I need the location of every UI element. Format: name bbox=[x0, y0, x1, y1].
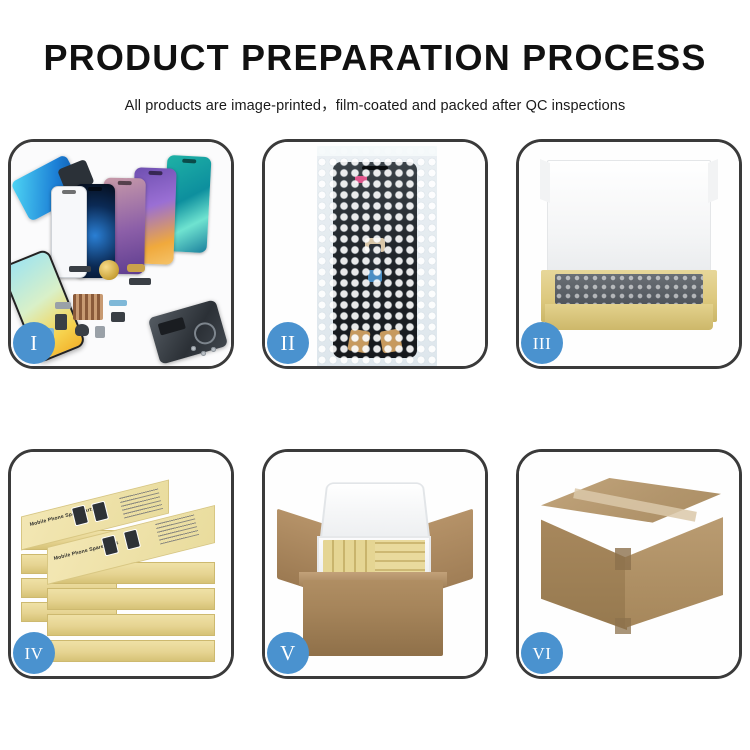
step-panel-4: Mobile Phone Spare Parts Mobile Phone Sp… bbox=[8, 449, 234, 679]
spare-part-gold-flex bbox=[127, 264, 145, 272]
spare-part-camera bbox=[111, 312, 125, 322]
stacked-box bbox=[47, 640, 215, 662]
spare-part-bracket bbox=[55, 302, 71, 309]
step-panel-3: III bbox=[516, 139, 742, 369]
step-badge-2: II bbox=[267, 322, 309, 364]
bag-seal bbox=[317, 146, 437, 156]
header: PRODUCT PREPARATION PROCESS All products… bbox=[0, 0, 750, 115]
speaker-coil-icon bbox=[99, 260, 119, 280]
kraft-tray-front bbox=[545, 304, 713, 330]
chip-grid-icon bbox=[73, 294, 103, 320]
step-panel-2: II bbox=[262, 139, 488, 369]
bubble-texture bbox=[317, 146, 437, 366]
step-badge-3: III bbox=[521, 322, 563, 364]
carton-seam-tab-upper bbox=[615, 548, 631, 570]
spare-part-bar bbox=[69, 266, 91, 272]
screws-icon bbox=[191, 346, 217, 360]
spare-part-module bbox=[55, 314, 67, 330]
spare-part-sim-tray bbox=[95, 326, 105, 338]
spare-part-speaker bbox=[75, 324, 89, 336]
spare-part-flex-cable bbox=[129, 278, 151, 285]
spare-part-blue-connector bbox=[109, 300, 127, 306]
carton-body bbox=[303, 580, 443, 656]
product-preparation-infographic: PRODUCT PREPARATION PROCESS All products… bbox=[0, 0, 750, 750]
phone-screen-blank-glass bbox=[51, 186, 87, 278]
white-box-lid bbox=[547, 160, 711, 282]
process-step-grid: I II bbox=[8, 139, 742, 679]
step-panel-6: VI bbox=[516, 449, 742, 679]
step-badge-4: IV bbox=[13, 632, 55, 674]
carton-seam-tab-lower bbox=[615, 618, 631, 634]
foam-lid bbox=[319, 482, 431, 543]
step-badge-5: V bbox=[267, 632, 309, 674]
page-title: PRODUCT PREPARATION PROCESS bbox=[0, 0, 750, 76]
bubble-wrap-bag bbox=[317, 146, 437, 366]
bubble-wrapped-contents bbox=[555, 274, 703, 304]
step-panel-5: V bbox=[262, 449, 488, 679]
stacked-box bbox=[47, 614, 215, 636]
stacked-box bbox=[47, 588, 215, 610]
step-panel-1: I bbox=[8, 139, 234, 369]
step-badge-6: VI bbox=[521, 632, 563, 674]
step-badge-1: I bbox=[13, 322, 55, 364]
page-subtitle: All products are image-printed，film-coat… bbox=[0, 76, 750, 115]
